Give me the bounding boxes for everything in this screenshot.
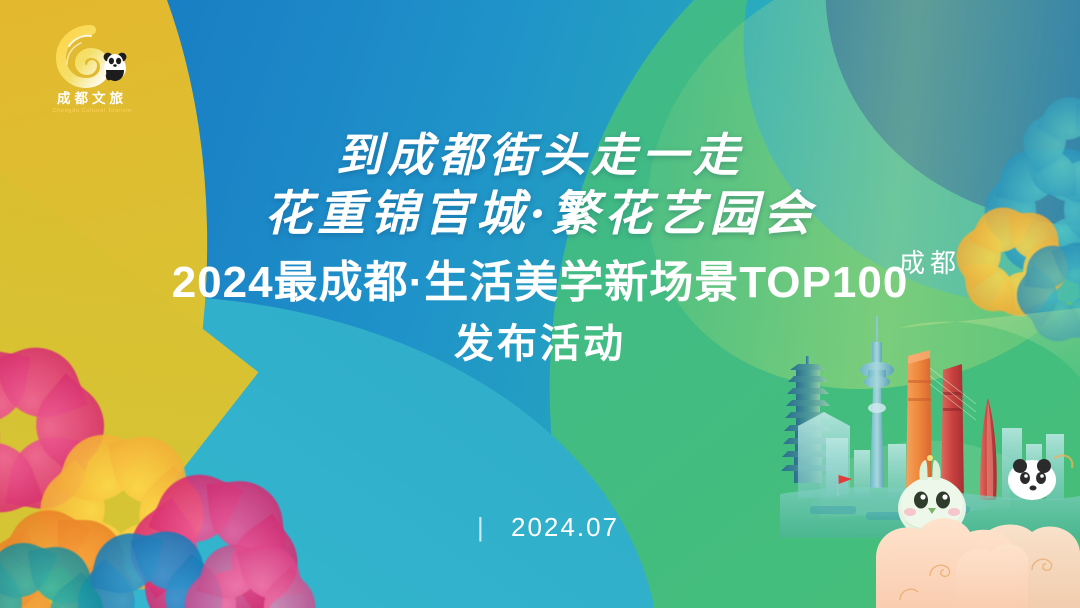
calligraphy-line-2: 花重锦官城·繁花艺园会 [0, 190, 1080, 240]
footer-city: 成都 [780, 243, 1080, 543]
footer-date: 2024.07 [511, 512, 619, 542]
footer-separator: | [477, 512, 486, 542]
logo-english-name: Chengdu Cultural Tourism [37, 109, 147, 115]
logo: 成都文旅 Chengdu Cultural Tourism [37, 24, 147, 122]
calligraphy-line-1: 到成都街头走一走 [0, 132, 1080, 180]
footer-info: 成都 | 2024.07 [0, 512, 1080, 543]
logo-chinese-name: 成都文旅 [37, 92, 147, 106]
chengdu-culture-tourism-logo-icon [47, 24, 137, 90]
poster-canvas: 成都文旅 Chengdu Cultural Tourism 到成都街头走一走 花… [0, 0, 1080, 608]
